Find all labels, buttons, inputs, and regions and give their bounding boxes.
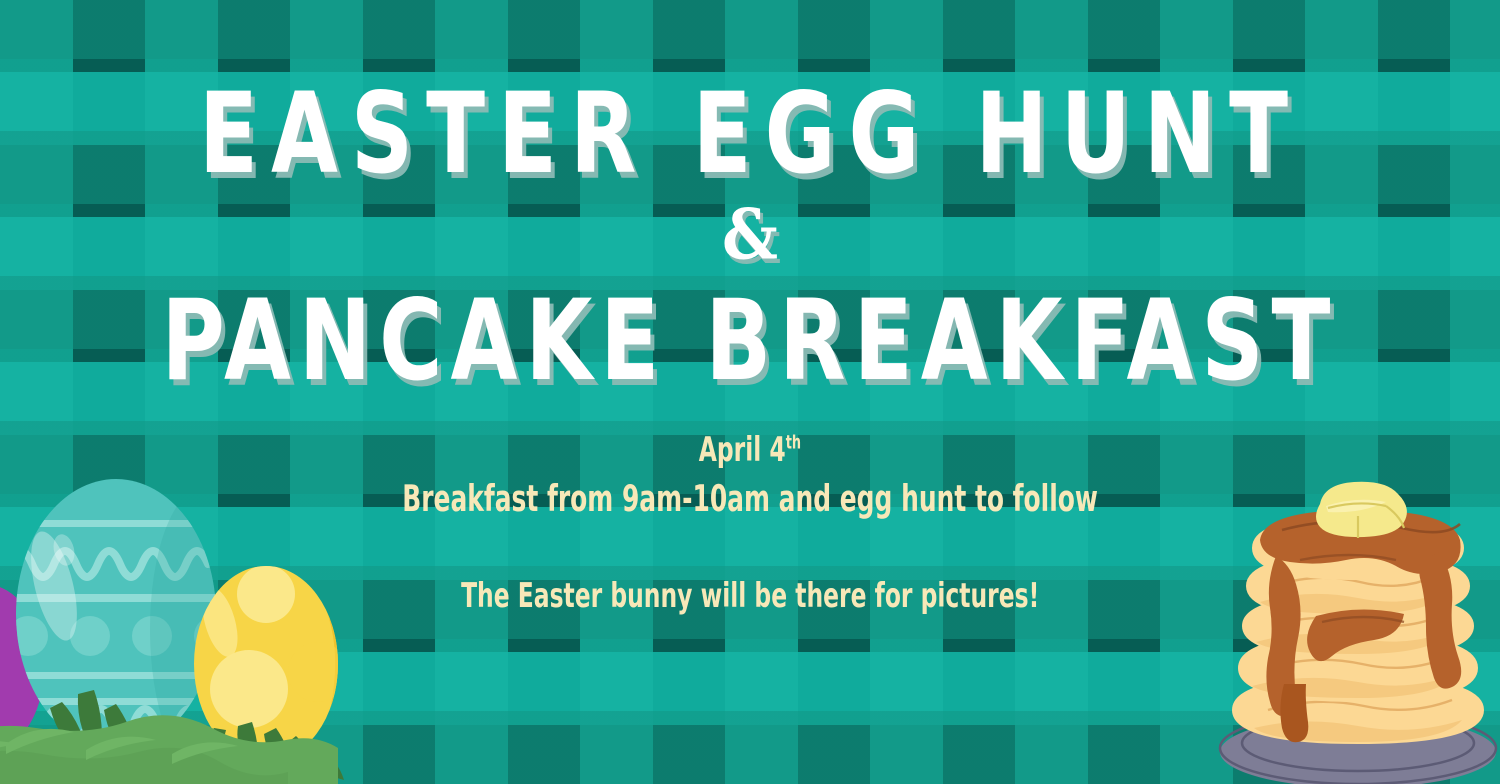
easter-flyer: EASTER EGG HUNT & PANCAKE BREAKFAST Apri… bbox=[0, 0, 1500, 784]
pancake-stack-illustration bbox=[1208, 460, 1500, 784]
easter-eggs-illustration bbox=[0, 454, 386, 784]
butter-icon bbox=[1316, 482, 1407, 538]
